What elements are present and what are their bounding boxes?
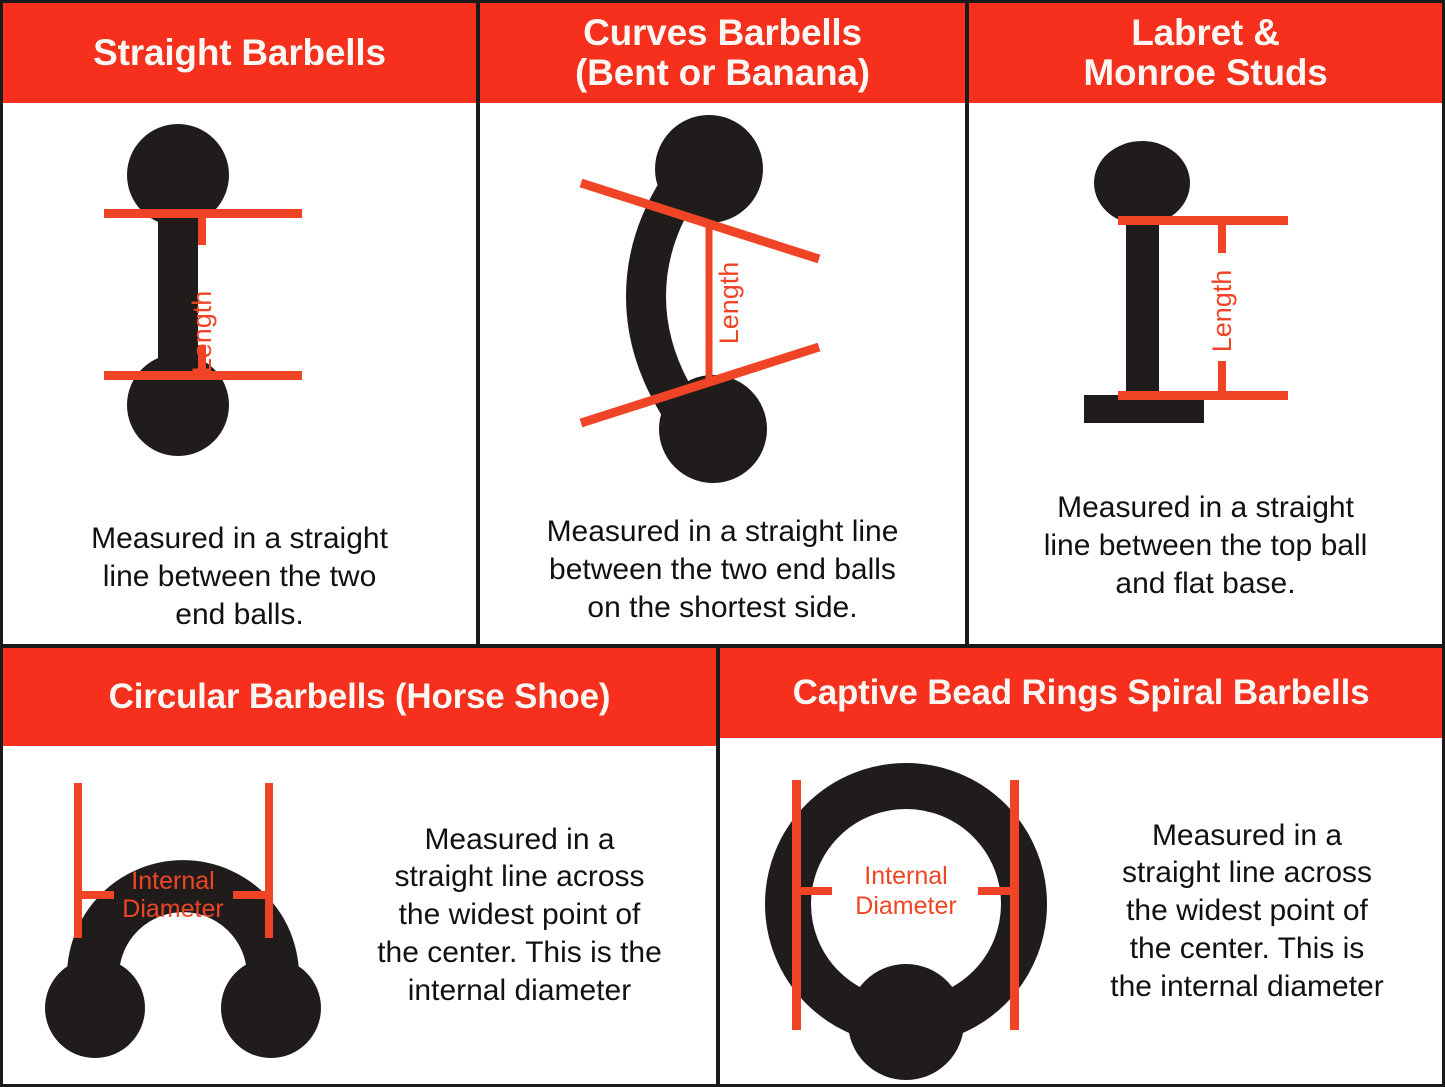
panel-captive-bead-rings-body: Internal Diameter Measured in a straight…: [720, 738, 1442, 1084]
captive-bead-ring-svg: Internal Diameter: [756, 764, 1056, 1084]
diameter-arrow-left: [796, 887, 832, 895]
labret-shaft: [1126, 201, 1159, 401]
panel-captive-bead-rings: Captive Bead Rings Spiral Barbells: [716, 648, 1442, 1084]
measure-tick-bottom: [1218, 361, 1226, 395]
panel-circular-barbells-body: Internal Diameter Measured in a straight…: [3, 746, 716, 1084]
title-line-2: (Bent or Banana): [575, 53, 870, 93]
guide-line-left: [792, 780, 801, 1030]
captive-bead: [848, 964, 964, 1080]
caption-line-2: line between the two: [91, 558, 388, 596]
guide-line-right: [265, 783, 273, 938]
caption-line-1: Measured in a straight: [91, 520, 388, 558]
caption-line-3: the widest point of: [1062, 892, 1432, 930]
measure-tick-top: [1218, 219, 1226, 253]
infographic-row-bottom: Circular Barbells (Horse Shoe): [3, 644, 1442, 1084]
curved-barbell-top-ball: [655, 115, 763, 223]
panel-labret-monroe-studs-caption: Measured in a straight line between the …: [1044, 489, 1368, 602]
diameter-arrow-right: [233, 891, 269, 899]
panel-labret-monroe-studs-title: Labret & Monroe Studs: [969, 3, 1442, 103]
panel-curved-barbells-caption: Measured in a straight line between the …: [547, 513, 899, 626]
caption-line-5: internal diameter: [341, 972, 698, 1010]
horseshoe-left-ball: [45, 958, 145, 1058]
caption-line-4: the center. This is: [1062, 930, 1432, 968]
caption-line-3: end balls.: [91, 596, 388, 634]
title-line-2: Monroe Studs: [1083, 53, 1327, 93]
measure-line-top: [1118, 216, 1288, 225]
curved-barbell-svg: Length: [573, 111, 873, 491]
panel-circular-barbells-caption: Measured in a straight line across the w…: [341, 821, 698, 1010]
panel-curved-barbells-body: Length Measured in a straight line betwe…: [480, 103, 965, 644]
title-line-1: Captive Bead Rings Spiral Barbells: [793, 674, 1370, 712]
caption-line-3: and flat base.: [1044, 565, 1368, 603]
panel-labret-monroe-studs: Labret & Monroe Studs: [965, 3, 1442, 644]
title-line-1: Labret &: [1131, 13, 1279, 53]
guide-line-left: [74, 783, 82, 938]
caption-line-1: Measured in a: [341, 821, 698, 859]
panel-straight-barbells-title: Straight Barbells: [3, 3, 476, 103]
caption-line-2: between the two end balls: [547, 551, 899, 589]
measure-label-diameter: Diameter: [122, 895, 223, 923]
panel-curved-barbells-title: Curves Barbells (Bent or Banana): [480, 3, 965, 103]
caption-line-1: Measured in a straight line: [547, 513, 899, 551]
diameter-arrow-right: [978, 887, 1014, 895]
labret-top-ball: [1094, 141, 1190, 225]
measure-label-internal: Internal: [131, 867, 214, 895]
caption-line-1: Measured in a straight: [1044, 489, 1368, 527]
body-jewelry-measurement-infographic: Straight Barbells: [0, 0, 1445, 1087]
caption-line-2: straight line across: [341, 858, 698, 896]
caption-line-1: Measured in a: [1062, 817, 1432, 855]
measure-label-length: Length: [1207, 270, 1237, 353]
title-line-1: Straight Barbells: [93, 33, 386, 73]
panel-circular-barbells-title: Circular Barbells (Horse Shoe): [3, 648, 716, 746]
horseshoe-right-ball: [221, 958, 321, 1058]
guide-line-right: [1010, 780, 1019, 1030]
title-line-1: Circular Barbells (Horse Shoe): [109, 678, 611, 716]
caption-line-3: on the shortest side.: [547, 589, 899, 627]
measure-tick-top: [198, 213, 206, 245]
infographic-row-top: Straight Barbells: [3, 3, 1442, 644]
caption-line-5: the internal diameter: [1062, 968, 1432, 1006]
panel-straight-barbells-body: Length Measured in a straight line betwe…: [3, 103, 476, 644]
measure-label-length: Length: [714, 262, 744, 345]
caption-line-2: straight line across: [1062, 854, 1432, 892]
measure-line-bottom: [1118, 391, 1288, 400]
panel-circular-barbells: Circular Barbells (Horse Shoe): [3, 648, 716, 1084]
straight-barbell-svg: Length: [110, 117, 370, 492]
panel-labret-monroe-studs-body: Length Measured in a straight line betwe…: [969, 103, 1442, 644]
curved-barbell-diagram: Length: [573, 111, 873, 491]
panel-straight-barbells: Straight Barbells: [3, 3, 476, 644]
measure-label-diameter: Diameter: [855, 892, 956, 920]
horseshoe-barbell-svg: Internal Diameter: [33, 765, 333, 1065]
caption-line-3: the widest point of: [341, 896, 698, 934]
panel-straight-barbells-caption: Measured in a straight line between the …: [91, 520, 388, 633]
measure-label-internal: Internal: [864, 862, 947, 890]
captive-bead-ring-diagram: Internal Diameter: [756, 764, 1056, 1084]
diameter-arrow-left: [78, 891, 114, 899]
measure-label-length: Length: [187, 291, 217, 374]
labret-stud-svg: Length: [1076, 133, 1336, 463]
caption-line-4: the center. This is the: [341, 934, 698, 972]
caption-line-2: line between the top ball: [1044, 527, 1368, 565]
labret-stud-diagram: Length: [1076, 133, 1336, 463]
straight-barbell-diagram: Length: [110, 117, 370, 492]
title-line-1: Curves Barbells: [583, 13, 862, 53]
panel-captive-bead-rings-caption: Measured in a straight line across the w…: [1062, 817, 1432, 1006]
panel-curved-barbells: Curves Barbells (Bent or Banana): [476, 3, 965, 644]
horseshoe-barbell-diagram: Internal Diameter: [33, 765, 333, 1065]
panel-captive-bead-rings-title: Captive Bead Rings Spiral Barbells: [720, 648, 1442, 738]
